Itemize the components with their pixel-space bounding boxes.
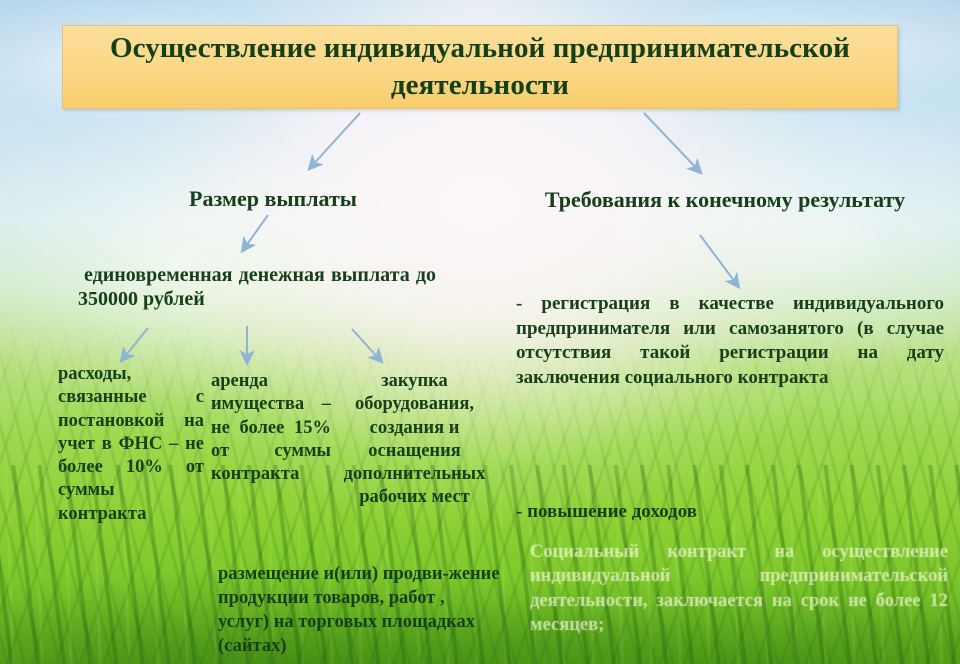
slide-canvas: Осуществление индивидуальной предпринима… — [0, 0, 960, 664]
payment-amount-text: единовременная денежная выплата до 35000… — [78, 263, 436, 312]
expense-item-registration-costs: расходы, связанные с постановкой на учет… — [58, 363, 204, 526]
expense-item-promotion: размещение и(или) продви-жение продукции… — [218, 562, 500, 658]
branch-heading-payment-amount: Размер выплаты — [108, 185, 438, 214]
branch-heading-final-result-requirements: Требования к конечному результату — [535, 186, 915, 215]
expense-item-equipment-purchase: закупка оборудования, создания и оснащен… — [332, 370, 497, 510]
contract-duration-note: Социальный контракт на осуществление инд… — [530, 540, 948, 638]
title-box: Осуществление индивидуальной предпринима… — [62, 25, 898, 109]
requirement-registration: - регистрация в качестве индивидуального… — [516, 292, 944, 391]
expense-item-property-rent: аренда имущества – не более 15% от суммы… — [211, 370, 331, 486]
page-title: Осуществление индивидуальной предпринима… — [81, 30, 879, 104]
requirement-income-increase: - повышение доходов — [516, 500, 944, 523]
